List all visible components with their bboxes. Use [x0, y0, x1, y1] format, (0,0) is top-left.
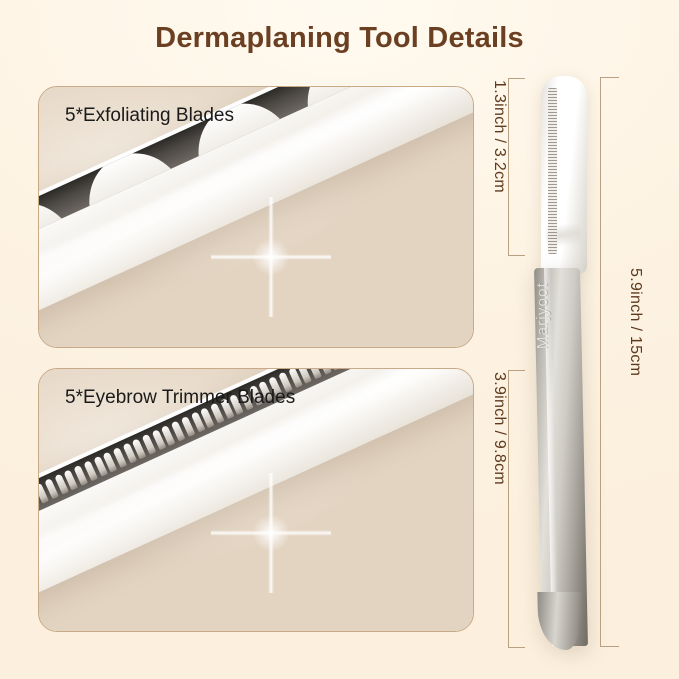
infographic-canvas: Dermaplaning Tool Details 5*Exfoliating …	[0, 0, 679, 679]
page-title: Dermaplaning Tool Details	[0, 22, 679, 55]
product-brand-label: Marjyoot	[534, 282, 590, 349]
product-blade-edge	[548, 88, 557, 254]
bracket-body-length	[508, 370, 525, 648]
scallop-arc	[291, 86, 400, 125]
measurement-total: 5.9inch / 15cm	[626, 268, 644, 376]
bracket-total-length	[600, 77, 619, 647]
card-eyebrow-trimmer-blades: 5*Eyebrow Trimmer Blades	[38, 368, 474, 632]
bracket-head-length	[508, 78, 525, 256]
measurement-body: 3.9inch / 9.8cm	[490, 372, 508, 644]
card-label-exfoliating: 5*Exfoliating Blades	[65, 105, 234, 127]
card-exfoliating-blades: 5*Exfoliating Blades	[38, 86, 474, 348]
card-label-trimmer: 5*Eyebrow Trimmer Blades	[65, 387, 295, 409]
scallop-arc	[38, 187, 73, 268]
measurement-head: 1.3inch / 3.2cm	[490, 80, 508, 252]
